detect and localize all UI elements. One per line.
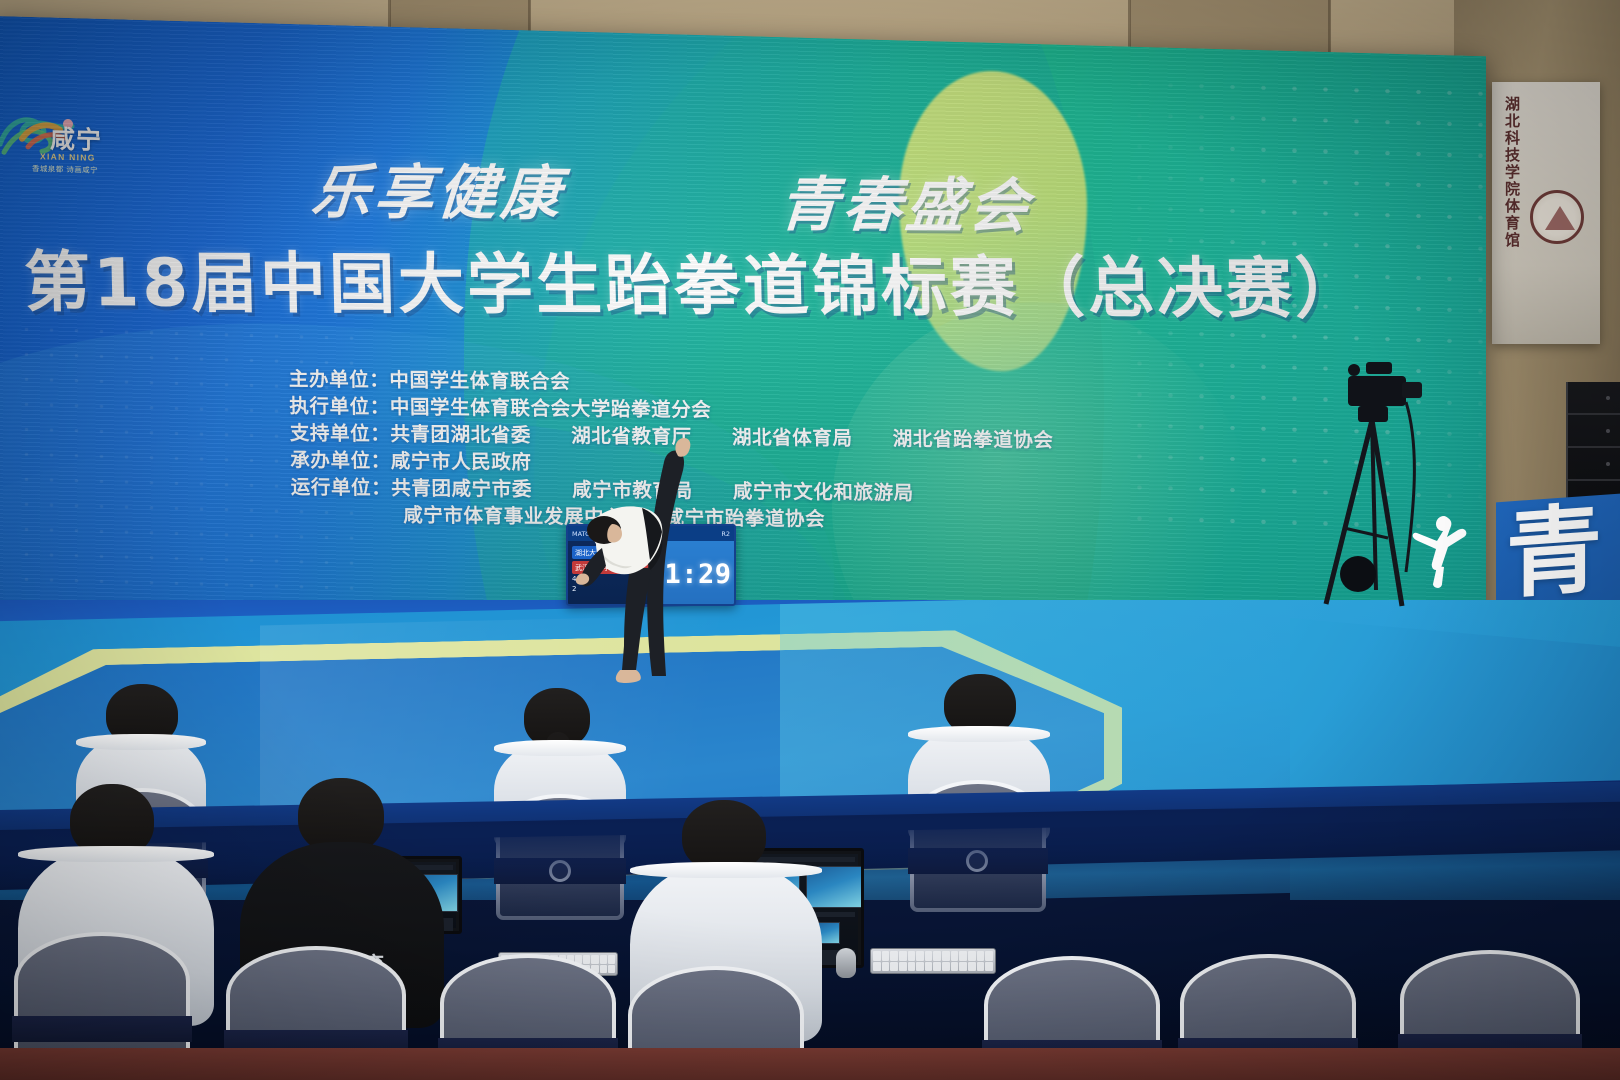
person-collar (494, 740, 626, 756)
event-title: 第18届中国大学生跆拳道锦标赛（总决赛） (23, 229, 1315, 332)
organizer-label: 主办单位： (289, 367, 390, 391)
led-backdrop-screen: 咸宁 XIAN NING 香城泉都 诗画咸宁 乐享健康 青春盛会 第18届中国大… (0, 16, 1486, 674)
organizer-label: 支持单位： (290, 422, 391, 446)
person-collar (76, 734, 206, 750)
xianning-city-logo: 咸宁 XIAN NING 香城泉都 诗画咸宁 (0, 100, 120, 191)
organizer-label: 承办单位： (290, 449, 391, 473)
organizer-label: 运行单位： (291, 476, 392, 500)
person-collar (18, 846, 214, 862)
slogan-right: 青春盛会 (777, 156, 1035, 243)
floor-strip (0, 1048, 1620, 1080)
organizer-label: 执行单位： (289, 394, 390, 418)
athlete-performing-kick (556, 418, 726, 688)
slogan-left: 乐享健康 (309, 144, 567, 231)
officials-area: 深邦体育 (0, 660, 1620, 1080)
hall-emblem-icon (1530, 190, 1584, 244)
hall-banner-text: 湖北科技学院体育馆 (1500, 96, 1522, 249)
broadcast-camera-on-tripod (1310, 358, 1440, 616)
computer-mouse[interactable] (836, 948, 856, 978)
person-collar (630, 862, 822, 878)
chair-sash (12, 1016, 192, 1042)
organizer-value: 中国学生体育联合会 (389, 368, 570, 393)
person-collar (908, 726, 1050, 742)
side-banner-glyph: 青 (1506, 501, 1602, 604)
hall-vertical-banner: 湖北科技学院体育馆 (1492, 82, 1600, 344)
logo-city-pinyin: XIAN NING (40, 151, 96, 163)
venue-photo: 湖北科技学院体育馆 咸宁 XIAN NING 香城泉都 诗画咸宁 (0, 0, 1620, 1080)
logo-city-slogan: 香城泉都 诗画咸宁 (32, 163, 98, 176)
control-keyboard[interactable] (870, 948, 996, 974)
organizer-value: 咸宁市人民政府 (391, 449, 532, 473)
